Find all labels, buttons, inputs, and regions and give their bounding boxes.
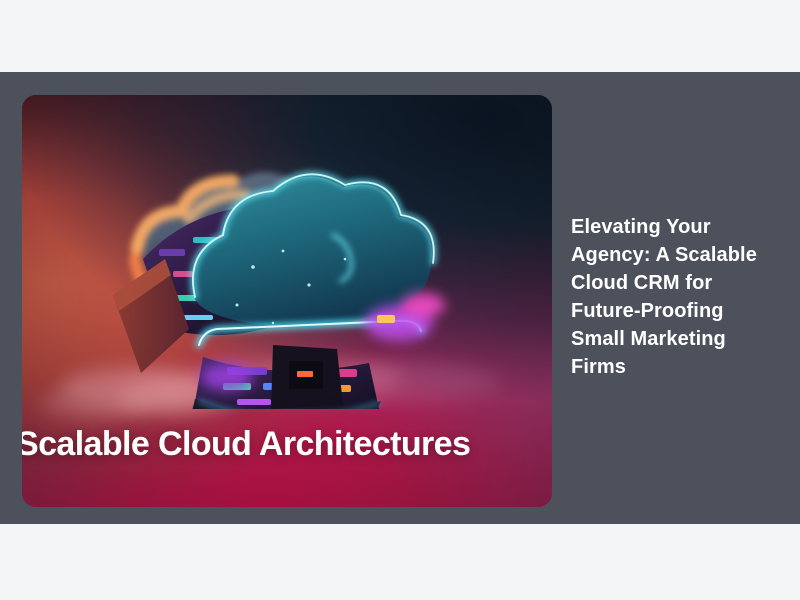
hero-image-card[interactable]: Scalable Cloud Architectures <box>22 95 552 507</box>
hero-overlay-caption: Scalable Cloud Architectures <box>22 426 552 463</box>
article-title[interactable]: Elevating Your Agency: A Scalable Cloud … <box>571 213 777 381</box>
feature-band: Scalable Cloud Architectures Elevating Y… <box>0 72 800 524</box>
page-root: Scalable Cloud Architectures Elevating Y… <box>0 0 800 600</box>
